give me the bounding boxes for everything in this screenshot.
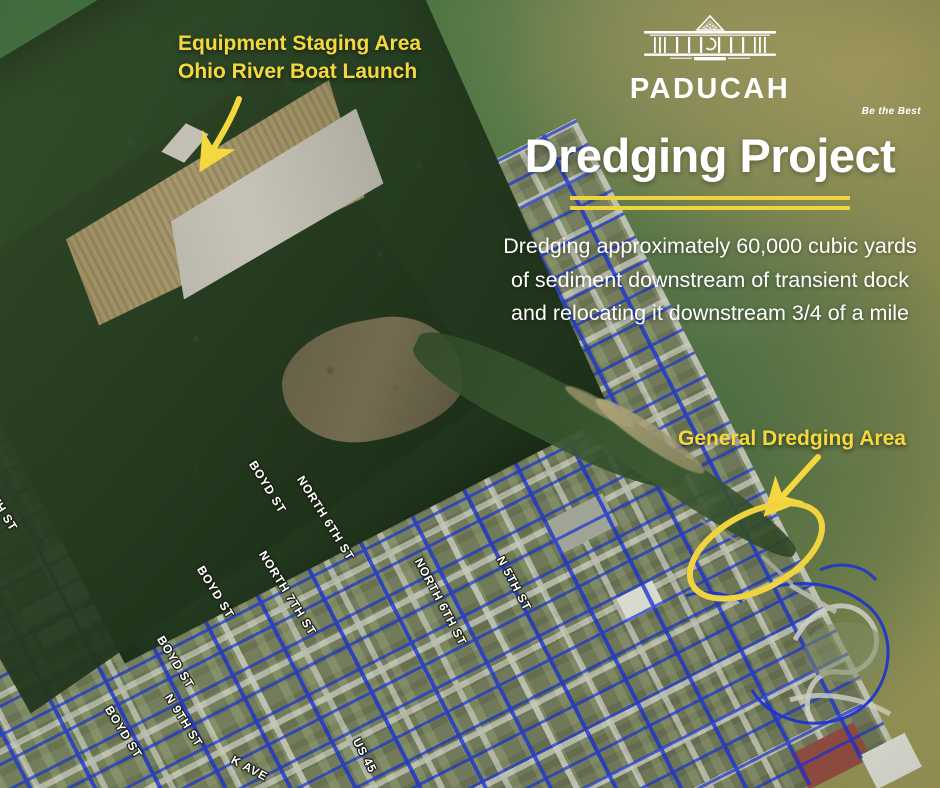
- project-description: Dredging approximately 60,000 cubic yard…: [495, 230, 925, 330]
- header-panel: PADUCAH Be the Best Dredging Project Dre…: [495, 14, 925, 330]
- paducah-market-house-icon: [630, 14, 790, 72]
- divider-bar: [570, 196, 850, 200]
- description-line: of sediment downstream of transient dock: [495, 264, 925, 297]
- brand-logo: [495, 14, 925, 72]
- annotation-general-dredging: General Dredging Area: [678, 425, 906, 453]
- title-divider: [570, 196, 850, 210]
- annotation-line: Equipment Staging Area: [178, 30, 421, 58]
- page-title: Dredging Project: [495, 131, 925, 180]
- description-line: Dredging approximately 60,000 cubic yard…: [495, 230, 925, 263]
- description-line: and relocating it downstream 3/4 of a mi…: [495, 297, 925, 330]
- brand-name: PADUCAH: [495, 75, 925, 104]
- divider-bar: [570, 206, 850, 210]
- dredging-project-poster: NORTH 6TH STBOYD STNORTH 7TH STNORTH 6TH…: [0, 0, 940, 788]
- annotation-line: General Dredging Area: [678, 425, 906, 453]
- brand-tagline: Be the Best: [495, 106, 925, 117]
- annotation-line: Ohio River Boat Launch: [178, 58, 421, 86]
- annotation-equipment-staging: Equipment Staging Area Ohio River Boat L…: [178, 30, 421, 87]
